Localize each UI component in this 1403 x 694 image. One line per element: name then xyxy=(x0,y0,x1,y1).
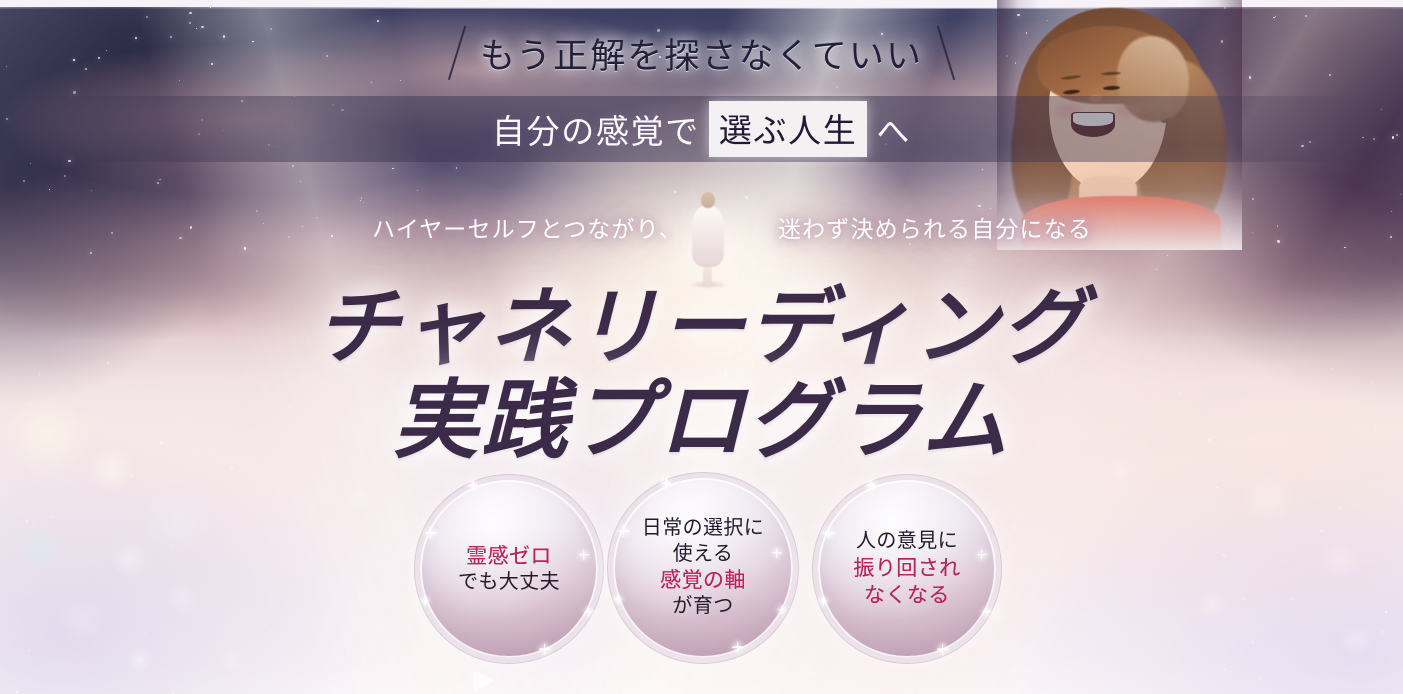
benefit-3-line-2: 振り回され xyxy=(853,555,960,582)
catch-line: もう正解を探さなくていい xyxy=(0,22,1403,84)
star xyxy=(1391,211,1392,212)
star xyxy=(1305,15,1307,17)
glitter xyxy=(1349,678,1350,679)
star xyxy=(417,190,418,191)
star xyxy=(316,217,317,218)
glitter xyxy=(1058,475,1060,477)
glitter xyxy=(1040,670,1041,671)
star xyxy=(179,237,182,240)
star xyxy=(292,165,294,167)
star xyxy=(300,181,301,182)
benefit-circle-3: 人の意見に振り回されなくなる xyxy=(818,480,996,658)
star xyxy=(189,12,192,15)
star xyxy=(331,235,333,237)
lead-line: 自分の感覚で 選ぶ人生 へ xyxy=(0,96,1403,162)
star xyxy=(1275,16,1277,18)
program-title: チャネリーディング 実践プログラム xyxy=(0,286,1403,465)
glitter xyxy=(131,475,133,477)
star xyxy=(302,226,303,227)
sparkle-icon xyxy=(982,607,992,617)
star xyxy=(73,91,76,94)
star xyxy=(244,247,246,249)
star xyxy=(1344,247,1346,249)
benefit-circle-group: 霊感ゼロでも大丈夫日常の選択に使える感覚の軸が育つ人の意見に振り回されなくなる xyxy=(0,480,1403,660)
sparkle-icon xyxy=(819,597,828,606)
star xyxy=(288,236,291,239)
hero-banner: もう正解を探さなくていい 自分の感覚で 選ぶ人生 へ ハイヤーセルフとつながり、… xyxy=(0,0,1403,694)
star xyxy=(1277,240,1280,243)
lead-prefix: 自分の感覚で xyxy=(492,105,700,153)
sparkle-icon xyxy=(421,597,430,606)
sparkle-icon xyxy=(937,643,949,655)
glitter xyxy=(8,685,9,686)
sparkle-icon xyxy=(976,549,987,560)
glitter xyxy=(691,668,692,669)
sparkle-icon xyxy=(468,480,478,490)
sparkle-icon xyxy=(584,607,594,617)
star xyxy=(1277,225,1279,227)
sparkle-icon xyxy=(732,641,744,653)
sparkle-icon xyxy=(771,547,782,558)
benefit-2-line-3: 感覚の軸 xyxy=(660,567,746,594)
star xyxy=(990,208,991,209)
star xyxy=(159,179,161,181)
glitter xyxy=(1224,664,1225,665)
glitter xyxy=(16,691,18,693)
star xyxy=(674,191,676,193)
star xyxy=(256,210,258,212)
glitter xyxy=(754,684,756,686)
star xyxy=(1252,198,1254,200)
benefit-1-line-1: 霊感ゼロ xyxy=(466,543,552,570)
slash-right-icon xyxy=(937,26,955,80)
glitter xyxy=(314,679,316,681)
star xyxy=(360,200,361,201)
star xyxy=(745,196,748,199)
star xyxy=(111,232,113,234)
star xyxy=(982,169,983,170)
glitter xyxy=(812,672,814,674)
benefit-3-line-1: 人の意見に xyxy=(856,529,958,555)
sparkle-icon xyxy=(822,527,835,540)
sparkle-icon xyxy=(424,527,437,540)
star xyxy=(91,190,92,191)
glitter xyxy=(716,684,717,685)
star xyxy=(263,223,264,224)
benefit-2-line-2: 使える xyxy=(673,542,734,568)
glitter xyxy=(231,467,233,469)
sparkle-icon xyxy=(578,549,589,560)
benefit-2-line-1: 日常の選択に xyxy=(642,516,764,542)
glitter xyxy=(1224,669,1226,671)
sparkle-icon xyxy=(614,595,623,604)
figure-body xyxy=(692,205,724,267)
star xyxy=(1273,17,1274,18)
glitter xyxy=(699,671,701,673)
star xyxy=(90,252,92,254)
star xyxy=(1390,236,1392,238)
walking-figure xyxy=(686,192,730,288)
catch-line-text: もう正解を探さなくていい xyxy=(480,28,923,79)
benefit-2-line-4: が育つ xyxy=(672,594,733,620)
star xyxy=(1400,194,1401,195)
glitter xyxy=(1259,678,1261,680)
star xyxy=(190,226,192,228)
star xyxy=(978,205,981,208)
program-title-line2: 実践プログラム xyxy=(0,378,1403,466)
sub-copy-right: 迷わず決められる自分になる xyxy=(778,210,1092,244)
play-triangle-icon[interactable] xyxy=(474,670,495,692)
glitter xyxy=(1257,664,1258,665)
star xyxy=(64,175,66,177)
benefit-circle-1: 霊感ゼロでも大丈夫 xyxy=(420,480,598,658)
glitter xyxy=(393,473,394,474)
glitter xyxy=(599,668,601,670)
sparkle-icon xyxy=(617,525,630,538)
lead-suffix: へ xyxy=(876,105,911,153)
glitter xyxy=(202,687,203,688)
sparkle-icon xyxy=(866,480,876,490)
benefit-circle-2: 日常の選択に使える感覚の軸が育つ xyxy=(613,478,793,658)
star xyxy=(30,163,31,164)
star xyxy=(146,16,148,18)
sub-copy-left: ハイヤーセルフとつながり、 xyxy=(372,210,683,244)
program-title-line1: チャネリーディング xyxy=(0,286,1403,372)
benefit-1-line-2: でも大丈夫 xyxy=(458,570,560,596)
star xyxy=(361,197,363,199)
star xyxy=(1167,255,1168,256)
star xyxy=(1156,269,1157,270)
star xyxy=(1252,232,1253,233)
figure-head xyxy=(701,192,715,208)
star xyxy=(49,189,50,190)
sparkle-icon xyxy=(539,643,551,655)
star xyxy=(363,202,364,203)
star xyxy=(456,167,458,169)
sparkle-icon xyxy=(777,605,787,615)
sparkle-icon xyxy=(661,478,671,488)
benefit-3-line-3: なくなる xyxy=(864,582,950,609)
glitter xyxy=(1077,691,1078,692)
glitter xyxy=(1084,671,1086,673)
lead-highlight: 選ぶ人生 xyxy=(709,101,868,157)
star xyxy=(836,86,838,88)
star xyxy=(23,180,25,182)
star xyxy=(157,182,159,184)
slash-left-icon xyxy=(448,26,466,80)
star xyxy=(392,168,394,170)
